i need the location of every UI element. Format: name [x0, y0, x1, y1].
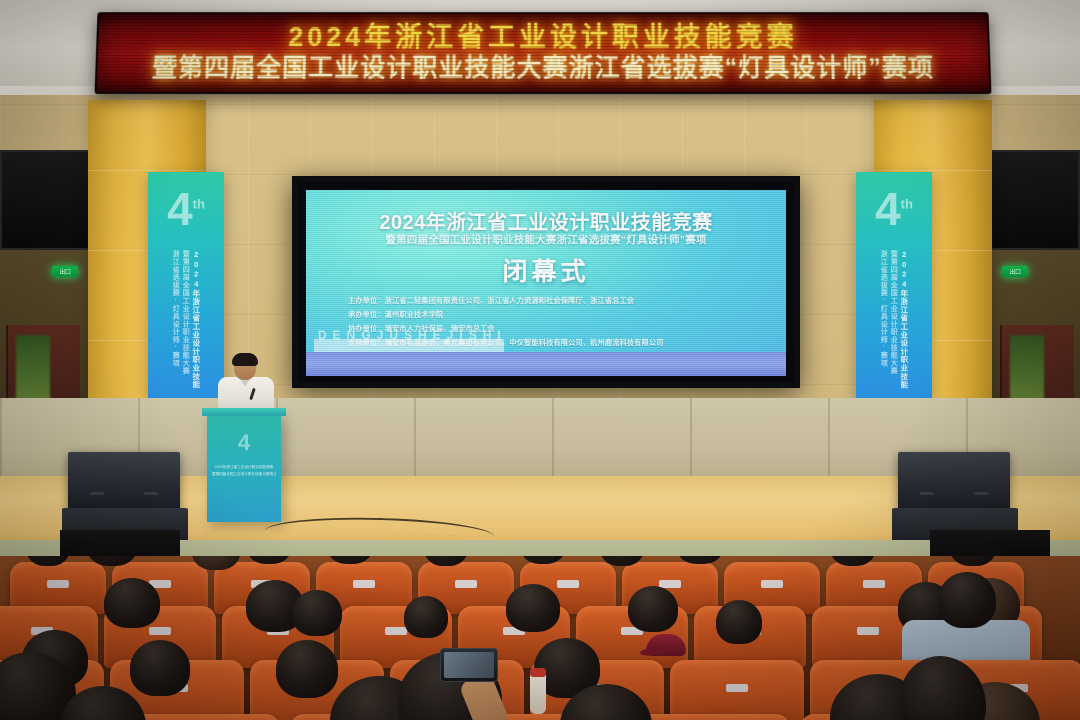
led-header-banner: 2024年浙江省工业设计职业技能竞赛 暨第四届全国工业设计职业技能大赛浙江省选拔… [95, 12, 992, 94]
rollup-numeral-text-right: 4 [875, 183, 901, 235]
podium-text-block: 2024年浙江省工业设计职业技能竞赛 暨第四届全国工业设计职业技能大赛浙江省选拔… [212, 464, 276, 478]
podium-numeral: 4 [207, 432, 281, 454]
smartphone[interactable] [440, 648, 498, 682]
podium: 4 2024年浙江省工业设计职业技能竞赛 暨第四届全国工业设计职业技能大赛浙江省… [207, 414, 281, 522]
rollup-col-main-right: 2024年浙江省工业设计职业技能 [900, 250, 908, 396]
audience-head [104, 578, 160, 628]
audience-head [130, 640, 190, 696]
credit-line: 主办单位：浙江省二轻集团有限责任公司、浙江省人力资源和社会保障厅、浙江省总工会 [348, 294, 764, 308]
pa-speaker-top-right [898, 452, 1010, 510]
rollup-columns-left: 2024年浙江省工业设计职业技能 暨第四届全国工业设计职业技能大赛 浙江省选拔赛… [154, 250, 218, 396]
seat[interactable] [630, 714, 790, 720]
audience-head [716, 600, 762, 644]
credit-line: 协办单位：瑞安市人力社保局、瑞安市总工会 [348, 322, 764, 336]
podium-top [202, 408, 286, 416]
audience-head [938, 572, 996, 628]
audience-head [404, 596, 448, 638]
screen-main-heading: 闭幕式 [306, 252, 786, 288]
podium-line-2: 暨第四届全国工业设计职业技能大赛浙江省选拔赛 [212, 471, 276, 478]
podium-line-1: 2024年浙江省工业设计职业技能竞赛 [212, 464, 276, 471]
wall-monitor-right [988, 150, 1080, 250]
screen-white-bar [314, 339, 504, 352]
rollup-numeral-text-left: 4 [167, 183, 193, 235]
rollup-banner-left: 4th 2024年浙江省工业设计职业技能 暨第四届全国工业设计职业技能大赛 浙江… [148, 172, 224, 400]
rollup-col-second-left: 暨第四届全国工业设计职业技能大赛 [182, 250, 189, 396]
seat[interactable] [670, 660, 804, 720]
pa-speaker-top-left [68, 452, 180, 510]
audience-cap [646, 634, 686, 656]
credit-line: 支持单位：瑞安市礼品协会、奥光集团有限公司、中仪智能科技有限公司、杭州鹿流科技有… [348, 336, 764, 350]
screen-title: 2024年浙江省工业设计职业技能竞赛 [306, 206, 786, 235]
rollup-col-second-right: 暨第四届全国工业设计职业技能大赛 [890, 250, 897, 396]
audience-head [276, 640, 338, 698]
banner-line-2: 暨第四届全国工业设计职业技能大赛浙江省选拔赛“灯具设计师”赛项 [152, 54, 935, 84]
auditorium-photo: 出口 出口 2024年浙江省工业设计职业技能竞赛 暨第四届全国工业设计职业技能大… [0, 0, 1080, 720]
rollup-col-third-left: 浙江省选拔赛·灯具设计师·赛项 [172, 250, 179, 396]
audience-area [0, 556, 1080, 720]
audience-head [292, 590, 342, 636]
wall-monitor-left [0, 150, 92, 250]
main-led-screen-frame: 2024年浙江省工业设计职业技能竞赛 暨第四届全国工业设计职业技能大赛浙江省选拔… [292, 176, 800, 388]
phone-screen [444, 652, 494, 678]
audience-head [628, 586, 678, 632]
main-led-screen: 2024年浙江省工业设计职业技能竞赛 暨第四届全国工业设计职业技能大赛浙江省选拔… [306, 190, 786, 376]
water-bottle [530, 668, 546, 714]
banner-line-1: 2024年浙江省工业设计职业技能竞赛 [288, 22, 798, 54]
screen-bottom-band [306, 352, 786, 376]
screen-pinyin-watermark: DENGJUSHEJISHI [318, 328, 507, 342]
credit-line: 承办单位：温州职业技术学院 [348, 308, 764, 322]
rollup-numeral-sup-left: th [193, 197, 205, 212]
screen-subtitle: 暨第四届全国工业设计职业技能大赛浙江省选拔赛“灯具设计师”赛项 [306, 232, 786, 247]
rollup-col-main-left: 2024年浙江省工业设计职业技能 [192, 250, 200, 396]
rollup-banner-right: 4th 2024年浙江省工业设计职业技能 暨第四届全国工业设计职业技能大赛 浙江… [856, 172, 932, 400]
rollup-col-third-right: 浙江省选拔赛·灯具设计师·赛项 [880, 250, 887, 396]
speaker-hair [232, 353, 258, 366]
exit-sign-left: 出口 [52, 266, 78, 277]
rollup-numeral-left: 4th [148, 186, 224, 232]
rollup-numeral-sup-right: th [901, 197, 913, 212]
rollup-columns-right: 2024年浙江省工业设计职业技能 暨第四届全国工业设计职业技能大赛 浙江省选拔赛… [862, 250, 926, 396]
screen-credits: 主办单位：浙江省二轻集团有限责任公司、浙江省人力资源和社会保障厅、浙江省总工会 … [348, 294, 764, 350]
rollup-numeral-right: 4th [856, 186, 932, 232]
exit-sign-right: 出口 [1002, 266, 1028, 277]
audience-head [506, 584, 560, 632]
